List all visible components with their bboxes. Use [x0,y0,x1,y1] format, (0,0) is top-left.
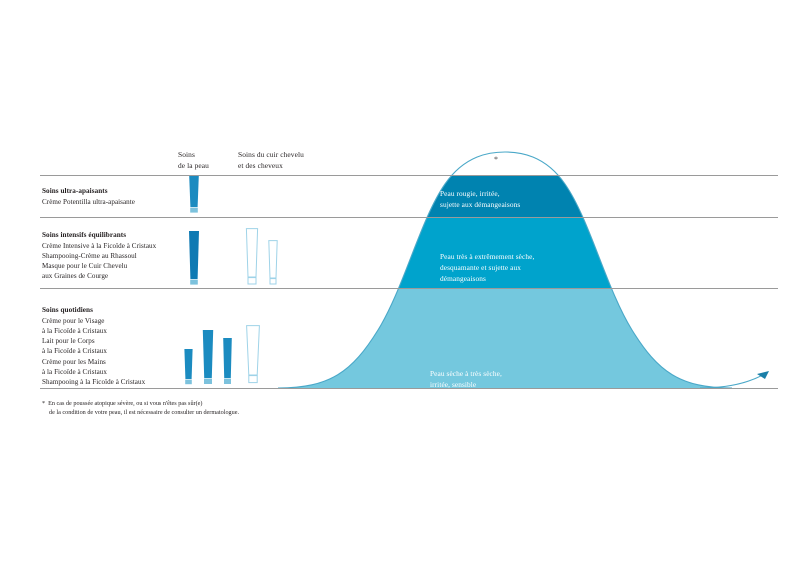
tube-outline-icon [266,240,280,286]
column-header-skincare-line1: Soins [178,150,209,161]
band-caption-top: Peau rougie, irritée, sujette aux démang… [440,188,520,210]
band-caption-bottom-line2: irritée, sensible [430,379,502,390]
curve-right-tail [700,372,768,388]
band-caption-middle-line3: démangeaisons [440,273,534,284]
rule-2 [40,217,778,218]
arrow-up-right-icon [757,371,769,379]
row-title-ultra-apaisants: Soins ultra-apaisants [42,186,192,196]
infographic-canvas: Soins de la peau Soins du cuir chevelu e… [0,0,800,566]
row-product: Crème Intensive à la Ficoïde à Cristaux [42,241,192,251]
footnote-text-1: En cas de poussée atopique sévère, ou si… [48,400,202,407]
row-product: Shampooing-Crème au Rhassoul [42,251,192,261]
tube-filled-icon [200,330,216,385]
footnote-text-2: de la condition de votre peau, il est né… [42,408,372,417]
row-product: à la Ficoïde à Cristaux [42,326,192,336]
tube-filled-icon [221,338,234,385]
row-ultra-apaisants: Soins ultra-apaisants Crème Potentilla u… [42,186,192,207]
row-product: Shampooing à la Ficoïde à Cristaux [42,377,192,387]
band-caption-bottom-line1: Peau sèche à très sèche, [430,368,502,379]
tube-group-skin-row1 [186,176,202,214]
row-quotidiens: Soins quotidiens Crème pour le Visage à … [42,305,192,387]
row-product: Lait pour le Corps [42,336,192,346]
rule-3 [40,288,778,289]
row-product: à la Ficoïde à Cristaux [42,346,192,356]
band-caption-top-line2: sujette aux démangeaisons [440,199,520,210]
tube-group-scalp-row3 [243,325,263,385]
row-product: à la Ficoïde à Cristaux [42,367,192,377]
column-header-scalpcare-line2: et des cheveux [238,161,304,172]
column-header-scalpcare: Soins du cuir chevelu et des cheveux [238,150,304,171]
skin-condition-bell-curve [0,0,800,566]
band-caption-middle: Peau très à extrêmement sèche, desquaman… [440,251,534,284]
tube-group-scalp-row2 [243,228,280,286]
row-intensifs-equilibrants: Soins intensifs équilibrants Crème Inten… [42,230,192,282]
row-product: Masque pour le Cuir Chevelu [42,261,192,271]
column-header-scalpcare-line1: Soins du cuir chevelu [238,150,304,161]
footnote: *En cas de poussée atopique sévère, ou s… [42,399,372,417]
column-header-skincare-line2: de la peau [178,161,209,172]
row-product: Crème pour le Visage [42,316,192,326]
row-title-intensifs-equilibrants: Soins intensifs équilibrants [42,230,192,240]
row-title-quotidiens: Soins quotidiens [42,305,192,315]
row-product: aux Graines de Courge [42,271,192,281]
asterisk-icon: * [494,155,498,164]
row-product: Crème pour les Mains [42,357,192,367]
tube-group-skin-row3 [182,330,234,385]
row-product: Crème Potentilla ultra-apaisante [42,197,192,207]
band-peak-white [0,140,800,175]
footnote-line1: *En cas de poussée atopique sévère, ou s… [42,399,372,408]
band-caption-top-line1: Peau rougie, irritée, [440,188,520,199]
band-caption-middle-line2: desquamante et sujette aux [440,262,534,273]
column-header-skincare: Soins de la peau [178,150,209,171]
tube-filled-icon [182,349,195,385]
tube-filled-icon [186,176,202,214]
tube-outline-icon [243,325,263,385]
rule-top [40,175,778,176]
tube-filled-icon [186,231,202,286]
footnote-marker: * [42,400,45,407]
band-caption-bottom: Peau sèche à très sèche, irritée, sensib… [430,368,502,390]
tube-outline-icon [243,228,261,286]
band-caption-middle-line1: Peau très à extrêmement sèche, [440,251,534,262]
tube-group-skin-row2 [186,231,202,286]
rule-bottom [40,388,778,389]
